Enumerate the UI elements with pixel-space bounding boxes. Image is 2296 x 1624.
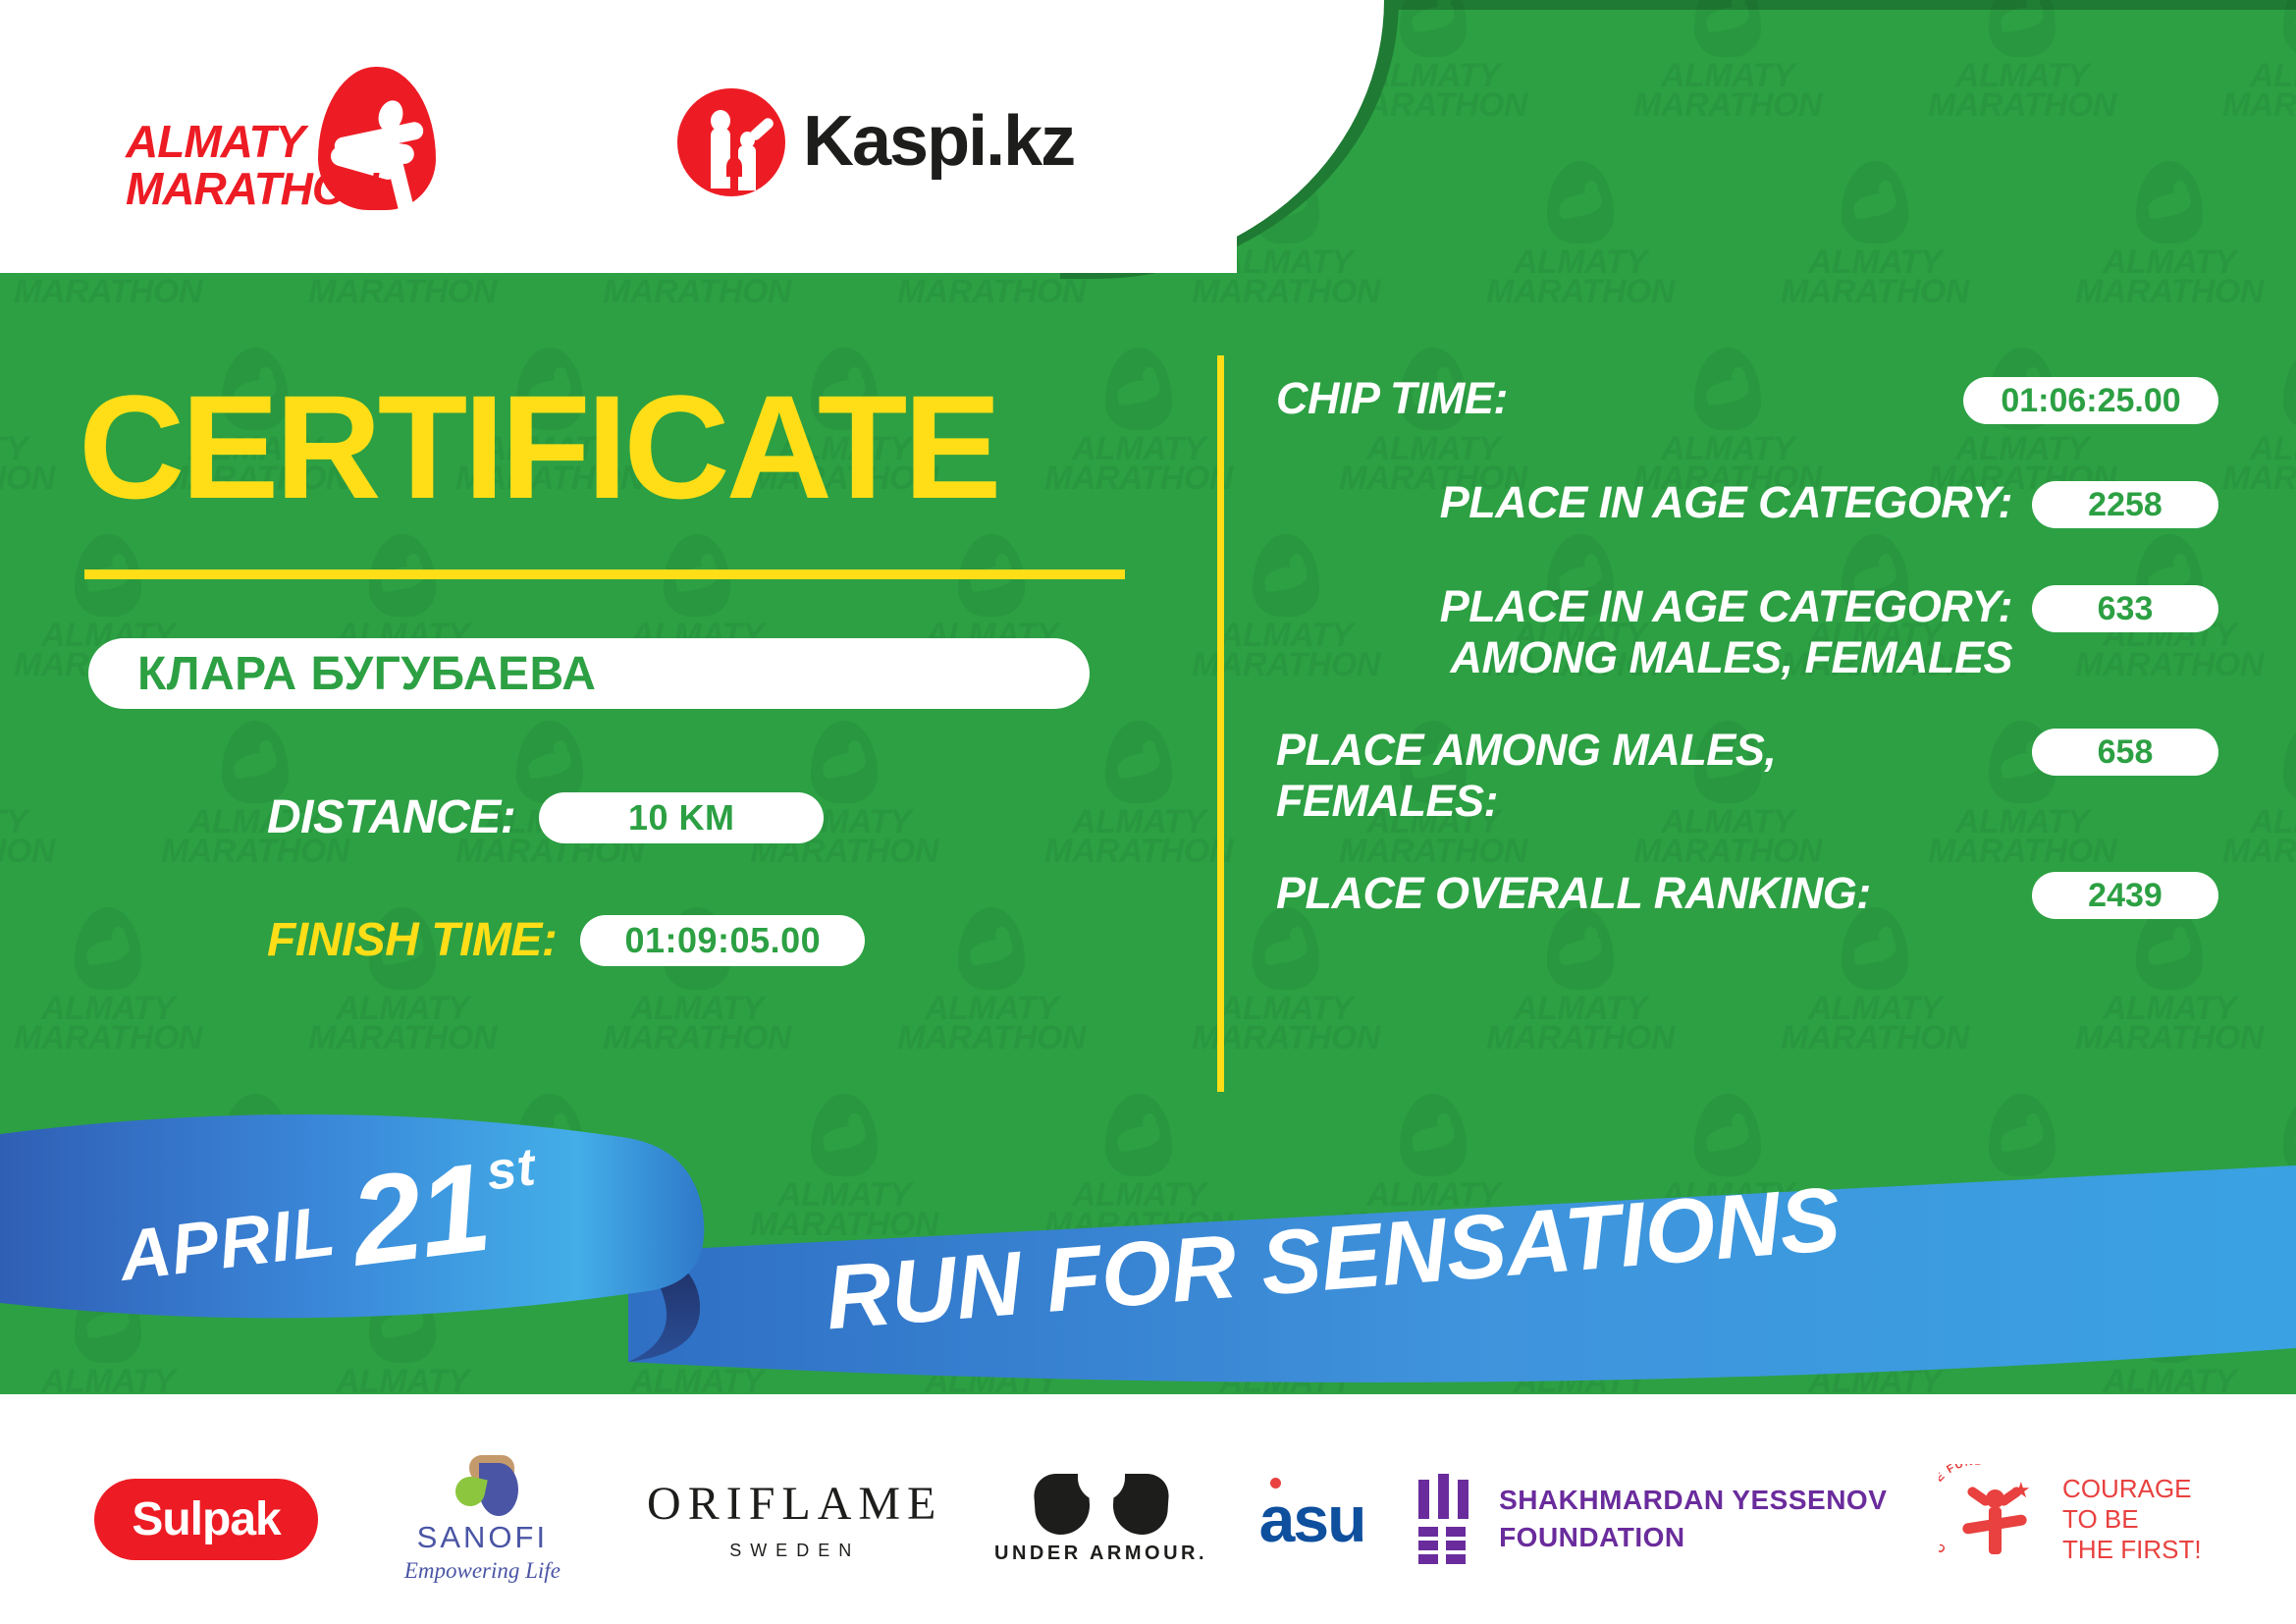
participant-name-field: КЛАРА БУГУБАЕВА bbox=[88, 638, 1090, 709]
watermark-tile: ALMATYMARATHON bbox=[1728, 157, 2022, 344]
stat-value: 658 bbox=[2098, 733, 2154, 772]
yessenov-wordmark: SHAKHMARDAN YESSENOVFOUNDATION bbox=[1499, 1482, 1887, 1556]
watermark-tile: ALMATYMARATHON bbox=[550, 1276, 844, 1394]
sponsor-bar: Sulpak SANOFI Empowering Life ORIFLAME S… bbox=[0, 1414, 2296, 1624]
sanofi-mark-icon bbox=[428, 1455, 536, 1516]
asu-dot-icon bbox=[1270, 1478, 1281, 1489]
kaspi-logo: Kaspi.kz bbox=[677, 88, 1090, 196]
stat-label: PLACE IN AGE CATEGORY: bbox=[1276, 477, 2032, 528]
event-month: APRIL bbox=[115, 1192, 340, 1296]
sanofi-logo: SANOFI Empowering Life bbox=[369, 1455, 595, 1583]
participant-name-value: КЛАРА БУГУБАЕВА bbox=[137, 647, 596, 701]
stat-value-pill: 633 bbox=[2032, 585, 2218, 632]
results-stats-list: CHIP TIME:01:06:25.00PLACE IN AGE CATEGO… bbox=[1276, 373, 2218, 972]
stat-value-pill: 2258 bbox=[2032, 481, 2218, 528]
watermark-tile: ALMATYMARATHON bbox=[0, 1090, 108, 1276]
distance-label: DISTANCE: bbox=[267, 790, 515, 844]
courage-body-icon bbox=[1989, 1507, 2002, 1554]
kaspi-wordmark: Kaspi.kz bbox=[803, 94, 1074, 189]
watermark-tile: ALMATYMARATHON bbox=[991, 344, 1286, 530]
courage-head-icon bbox=[1986, 1489, 2004, 1508]
watermark-tile: ALMATYMARATHON bbox=[1433, 157, 1728, 344]
title-underline bbox=[84, 569, 1125, 579]
courage-mark-icon: CORPORATE FUND ★ bbox=[1939, 1464, 2049, 1574]
event-day: 21 bbox=[344, 1137, 496, 1293]
stat-value-pill: 01:06:25.00 bbox=[1963, 377, 2218, 424]
stat-row: PLACE OVERALL RANKING:2439 bbox=[1276, 868, 2218, 931]
finish-time-label: FINISH TIME: bbox=[267, 913, 557, 967]
kaspi-adult-body-icon bbox=[711, 128, 730, 189]
courage-wordmark: COURAGETO BETHE FIRST! bbox=[2062, 1474, 2202, 1565]
distance-value-pill: 10 KM bbox=[539, 792, 824, 843]
stat-row: PLACE AMONG MALES,FEMALES:658 bbox=[1276, 725, 2218, 827]
kaspi-circle-icon bbox=[677, 88, 785, 196]
stat-value: 2439 bbox=[2088, 877, 2163, 915]
stat-row: PLACE IN AGE CATEGORY:AMONG MALES, FEMAL… bbox=[1276, 581, 2218, 683]
asu-wordmark: asu bbox=[1259, 1483, 1365, 1555]
page-title: CERTIFICATE bbox=[79, 373, 998, 520]
yessenov-foundation-logo: SHAKHMARDAN YESSENOVFOUNDATION bbox=[1416, 1474, 1887, 1564]
sponsor-sulpak: Sulpak bbox=[94, 1455, 317, 1583]
distance-value: 10 KM bbox=[628, 797, 735, 839]
oriflame-wordmark: ORIFLAME bbox=[647, 1477, 942, 1531]
watermark-tile: ALMATYMARATHON bbox=[0, 717, 108, 903]
sponsor-courage-fund: CORPORATE FUND ★ COURAGETO BETHE FIRST! bbox=[1939, 1455, 2202, 1583]
watermark-tile: ALMATYMARATHON bbox=[2022, 157, 2296, 344]
watermark-tile: ALMATYMARATHON bbox=[991, 717, 1286, 903]
sanofi-wordmark: SANOFI bbox=[369, 1520, 595, 1555]
almaty-marathon-wordmark: ALMATY MARATHON bbox=[126, 118, 318, 212]
stat-label: PLACE AMONG MALES,FEMALES: bbox=[1276, 725, 2032, 827]
stat-row: PLACE IN AGE CATEGORY:2258 bbox=[1276, 477, 2218, 540]
stat-value-pill: 658 bbox=[2032, 729, 2218, 776]
courage-fund-logo: CORPORATE FUND ★ COURAGETO BETHE FIRST! bbox=[1939, 1464, 2202, 1574]
sanofi-tagline: Empowering Life bbox=[369, 1558, 595, 1584]
stat-value-pill: 2439 bbox=[2032, 872, 2218, 919]
event-day-suffix: st bbox=[483, 1137, 539, 1202]
watermark-tile: ALMATYMARATHON bbox=[2169, 1090, 2296, 1276]
watermark-tile: ALMATYMARATHON bbox=[2022, 1276, 2296, 1394]
stat-value: 633 bbox=[2098, 590, 2154, 628]
watermark-tile: ALMATYMARATHON bbox=[1580, 0, 1875, 157]
under-armour-mark-icon bbox=[1035, 1474, 1168, 1535]
finish-time-value: 01:09:05.00 bbox=[624, 920, 821, 961]
sponsor-under-armour: UNDER ARMOUR. bbox=[994, 1455, 1207, 1583]
watermark-tile: ALMATYMARATHON bbox=[1728, 1276, 2022, 1394]
under-armour-logo: UNDER ARMOUR. bbox=[994, 1474, 1207, 1565]
sponsor-sanofi: SANOFI Empowering Life bbox=[369, 1455, 595, 1583]
sponsor-oriflame: ORIFLAME SWEDEN bbox=[647, 1455, 942, 1583]
watermark-tile: ALMATYMARATHON bbox=[1875, 1090, 2169, 1276]
kaspi-gap-icon bbox=[726, 157, 742, 177]
asu-logo: asu bbox=[1259, 1482, 1365, 1556]
stat-value: 01:06:25.00 bbox=[2001, 382, 2180, 420]
yessenov-mark-icon bbox=[1416, 1474, 1477, 1564]
finish-time-value-pill: 01:09:05.00 bbox=[580, 915, 865, 966]
sponsor-yessenov-foundation: SHAKHMARDAN YESSENOVFOUNDATION bbox=[1416, 1455, 1887, 1583]
brand-line-1: ALMATY bbox=[126, 118, 318, 165]
watermark-tile: ALMATYMARATHON bbox=[844, 903, 1139, 1090]
oriflame-tagline: SWEDEN bbox=[647, 1541, 942, 1561]
brand-line-2: MARATHON bbox=[126, 165, 318, 212]
stat-row: CHIP TIME:01:06:25.00 bbox=[1276, 373, 2218, 436]
stat-label: CHIP TIME: bbox=[1276, 373, 1963, 424]
column-divider bbox=[1217, 355, 1224, 1092]
watermark-tile: ALMATYMARATHON bbox=[1875, 0, 2169, 157]
stat-label: PLACE OVERALL RANKING: bbox=[1276, 868, 2032, 919]
under-armour-wordmark: UNDER ARMOUR. bbox=[994, 1543, 1207, 1565]
sponsor-asu: asu bbox=[1259, 1455, 1365, 1583]
sulpak-logo: Sulpak bbox=[94, 1479, 317, 1560]
distance-row: DISTANCE: 10 KM bbox=[267, 790, 824, 844]
almaty-marathon-logo: ALMATY MARATHON bbox=[126, 67, 450, 204]
svg-text:CORPORATE FUND: CORPORATE FUND bbox=[1939, 1464, 1984, 1555]
stat-value: 2258 bbox=[2088, 486, 2163, 524]
watermark-tile: ALMATYMARATHON bbox=[0, 903, 255, 1090]
finish-time-row: FINISH TIME: 01:09:05.00 bbox=[267, 913, 865, 967]
certificate-canvas: ALMATYMARATHONALMATYMARATHONALMATYMARATH… bbox=[0, 0, 2296, 1624]
oriflame-logo: ORIFLAME SWEDEN bbox=[647, 1477, 942, 1561]
watermark-tile: ALMATYMARATHON bbox=[2169, 0, 2296, 157]
stat-label: PLACE IN AGE CATEGORY:AMONG MALES, FEMAL… bbox=[1276, 581, 2032, 683]
